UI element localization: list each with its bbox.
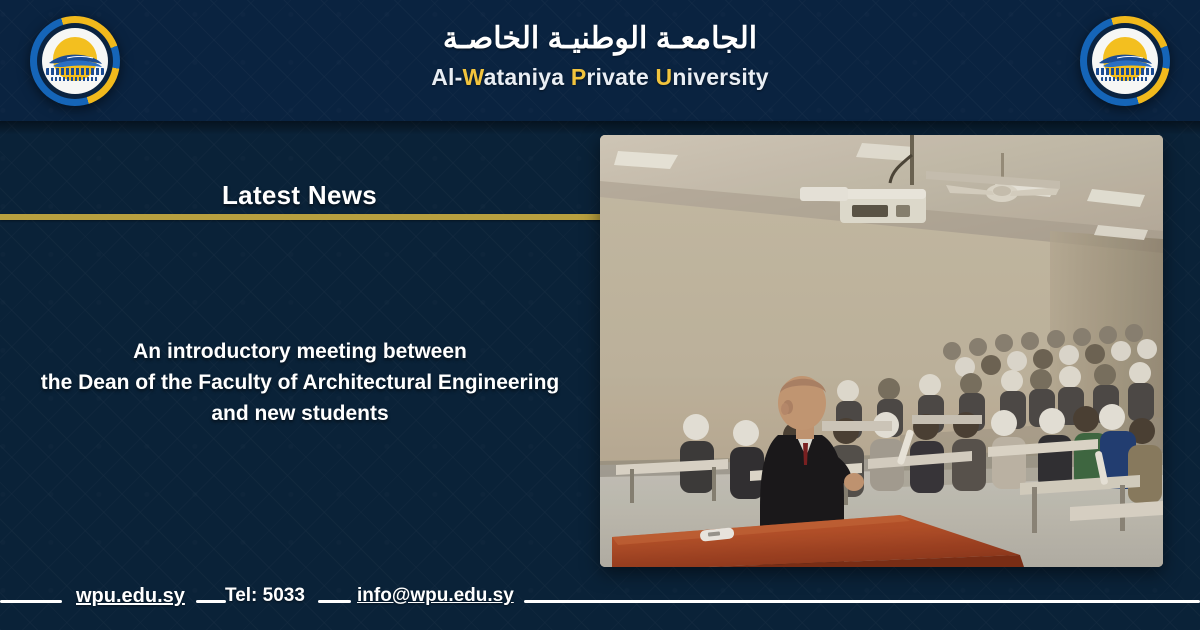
poster-footer: wpu.edu.sy Tel: 5033 info@wpu.edu.sy (0, 597, 1200, 605)
section-label-latest-news: Latest News (222, 180, 377, 211)
logo-disc (42, 28, 108, 94)
title-part-4: rivate (586, 64, 655, 90)
headline-line-1: An introductory meeting between (0, 336, 600, 367)
poster-header: الجامعـة الوطنيـة الخاصـة Al-Wataniya Pr… (0, 0, 1200, 121)
title-part-5: U (656, 64, 673, 90)
footer-rule-4 (524, 600, 1200, 603)
logo-english-wordmark (1101, 77, 1149, 81)
footer-rule-1 (0, 600, 62, 603)
title-part-2: ataniya (484, 64, 571, 90)
footer-rule-2 (196, 600, 226, 603)
headline-line-3: and new students (0, 398, 600, 429)
lecture-hall-illustration (600, 135, 1163, 567)
title-part-6: niversity (672, 64, 768, 90)
logo-arabic-wordmark (46, 68, 104, 75)
logo-wave-icon (1097, 52, 1153, 68)
news-poster: الجامعـة الوطنيـة الخاصـة Al-Wataniya Pr… (0, 0, 1200, 630)
logo-english-wordmark (51, 77, 99, 81)
university-logo-right (1080, 16, 1170, 106)
logo-wave-icon (47, 52, 103, 68)
university-name-english: Al-Wataniya Private University (0, 66, 1200, 89)
title-part-0: Al- (431, 64, 462, 90)
university-logo-left (30, 16, 120, 106)
news-photo (600, 135, 1163, 567)
logo-disc (1092, 28, 1158, 94)
university-name-arabic: الجامعـة الوطنيـة الخاصـة (0, 24, 1200, 54)
footer-email-link[interactable]: info@wpu.edu.sy (357, 585, 514, 607)
title-part-1: W (463, 64, 484, 90)
news-headline: An introductory meeting between the Dean… (0, 336, 600, 429)
gold-divider-rule (0, 214, 601, 220)
header-titles: الجامعـة الوطنيـة الخاصـة Al-Wataniya Pr… (0, 24, 1200, 89)
header-divider-shadow (0, 121, 1200, 135)
footer-website-link[interactable]: wpu.edu.sy (76, 585, 185, 608)
title-part-3: P (571, 64, 587, 90)
headline-line-2: the Dean of the Faculty of Architectural… (0, 367, 600, 398)
footer-rule-3 (318, 600, 351, 603)
footer-phone: Tel: 5033 (225, 585, 305, 607)
logo-arabic-wordmark (1096, 68, 1154, 75)
